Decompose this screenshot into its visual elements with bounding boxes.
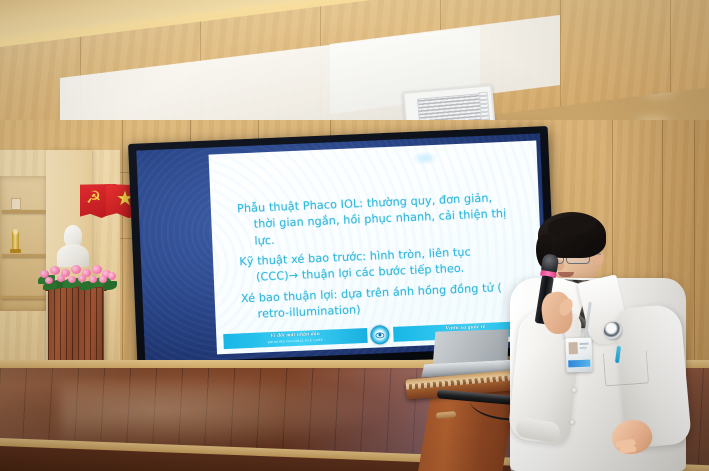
presentation-slide: Phẫu thuật Phaco IOL: thường quy, đơn gi… [209, 141, 545, 355]
hammer-and-sickle-icon: ☭ [86, 191, 101, 205]
hospital-emblem-icon [604, 322, 622, 340]
coat-button [570, 420, 575, 425]
pedestal [48, 288, 104, 368]
coat-pocket [603, 351, 649, 387]
slide-paragraph: Xé bao thuận lợi: dựa trên ánh hồng đồng… [241, 279, 531, 324]
shelf-item-box [11, 198, 21, 210]
mouth [558, 272, 574, 277]
id-badge [565, 338, 592, 373]
flower-arrangement [37, 261, 117, 291]
trophy-icon [12, 231, 19, 253]
eye-logo-icon [367, 325, 394, 345]
coat-button [572, 388, 577, 393]
slide-body-text: Phẫu thuật Phaco IOL: thường quy, đơn gi… [237, 189, 531, 328]
conference-hall-photo: ☭ [0, 0, 709, 471]
presenter [508, 206, 688, 471]
